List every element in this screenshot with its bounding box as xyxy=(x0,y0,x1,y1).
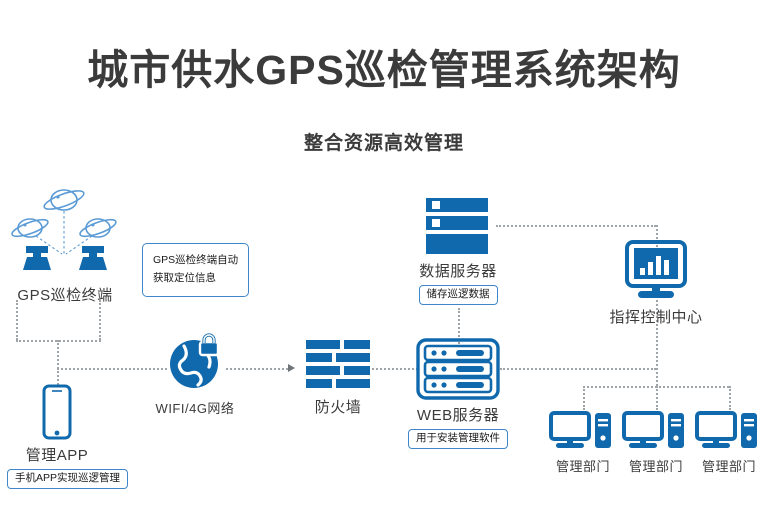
gps-callout-line-2: 获取定位信息 xyxy=(153,270,238,288)
node-department-3[interactable]: 管理部门 xyxy=(689,410,768,475)
node-department-1-label: 管理部门 xyxy=(543,456,623,475)
connector-gps-to-app xyxy=(57,340,59,385)
globe-lock-icon xyxy=(130,336,260,394)
node-data-server-badge: 储存巡逻数据 xyxy=(419,285,498,305)
node-firewall-label: 防火墙 xyxy=(288,396,388,417)
node-gps-terminal[interactable]: GPS巡检终端 xyxy=(0,180,130,305)
satellite-group-icon xyxy=(0,180,130,280)
node-department-2[interactable]: 管理部门 xyxy=(616,410,696,475)
server-rack-icon xyxy=(398,338,518,400)
desktop-pc-icon xyxy=(616,410,696,452)
page-title: 城市供水GPS巡检管理系统架构 xyxy=(0,36,768,96)
node-network-label: WIFI/4G网络 xyxy=(130,398,260,417)
node-manage-app-label: 管理APP xyxy=(7,444,107,465)
node-data-server-label: 数据服务器 xyxy=(398,260,518,281)
node-manage-app[interactable]: 管理APP 手机APP实现巡逻管理 xyxy=(7,384,107,489)
node-web-server-badge: 用于安装管理软件 xyxy=(408,429,508,449)
connector-dept-3-leg xyxy=(729,386,731,410)
connector-data-to-control xyxy=(496,225,656,227)
node-control-center[interactable]: 指挥控制中心 xyxy=(596,240,716,327)
connector-gps-left-leg xyxy=(16,300,18,340)
smartphone-icon xyxy=(7,384,107,440)
diagram-canvas: 城市供水GPS巡检管理系统架构 整合资源高效管理 xyxy=(0,0,768,531)
node-firewall[interactable]: 防火墙 xyxy=(288,336,388,417)
node-manage-app-badge: 手机APP实现巡逻管理 xyxy=(7,469,128,489)
node-gps-terminal-label: GPS巡检终端 xyxy=(0,284,130,305)
monitor-chart-icon xyxy=(596,240,716,302)
desktop-pc-icon xyxy=(543,410,623,452)
connector-web-to-right xyxy=(500,368,656,370)
node-department-1[interactable]: 管理部门 xyxy=(543,410,623,475)
node-department-3-label: 管理部门 xyxy=(689,456,768,475)
desktop-pc-icon xyxy=(689,410,768,452)
node-department-2-label: 管理部门 xyxy=(616,456,696,475)
node-network[interactable]: WIFI/4G网络 xyxy=(130,336,260,417)
database-server-icon xyxy=(398,196,518,256)
node-control-center-label: 指挥控制中心 xyxy=(596,306,716,327)
brick-wall-icon xyxy=(288,336,388,392)
gps-callout-line-1: GPS巡检终端自动 xyxy=(153,252,238,270)
node-web-server-label: WEB服务器 xyxy=(398,404,518,425)
node-web-server[interactable]: WEB服务器 用于安装管理软件 xyxy=(398,338,518,449)
connector-dept-1-leg xyxy=(583,386,585,410)
connector-gps-right-leg xyxy=(99,300,101,340)
gps-callout-box: GPS巡检终端自动 获取定位信息 xyxy=(142,243,249,297)
connector-dept-2-leg xyxy=(656,386,658,410)
node-data-server[interactable]: 数据服务器 储存巡逻数据 xyxy=(398,196,518,305)
page-subtitle: 整合资源高效管理 xyxy=(0,128,768,155)
